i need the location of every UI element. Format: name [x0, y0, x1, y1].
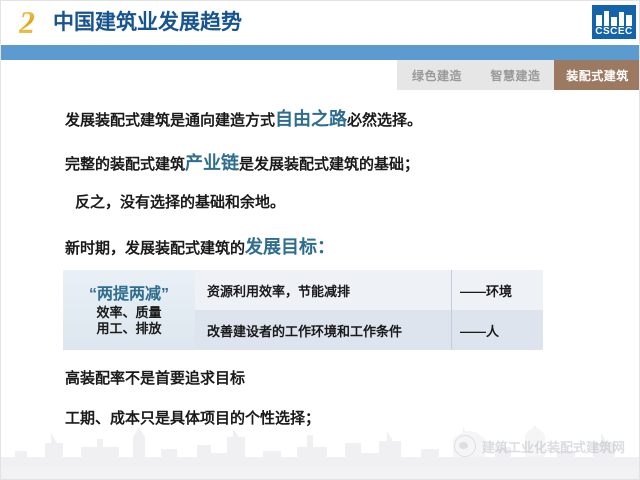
section-number: 2 [19, 4, 35, 40]
slide-header: 2 中国建筑业发展趋势 CSCEC [1, 1, 640, 45]
goal-description: 改善建设者的工作环境和工作条件 [195, 321, 451, 340]
cscec-logo: CSCEC [592, 5, 636, 39]
line1-highlight: 自由之路 [275, 109, 347, 129]
line2-text-a: 完整的装配式建筑 [65, 156, 185, 173]
goal-tag: ——人 [451, 310, 543, 350]
statement-line-6: 工期、成本只是具体项目的个性选择； [65, 409, 320, 429]
goals-left-heading: “两提两减” [89, 285, 169, 305]
slide-canvas: 2 中国建筑业发展趋势 CSCEC 绿色建造 智慧建造 装配式建筑 发展装配式建… [0, 0, 640, 480]
tab-smart-construction[interactable]: 智慧建造 [477, 60, 554, 90]
watermark-logo-icon [454, 435, 476, 457]
tab-prefabricated-building[interactable]: 装配式建筑 [554, 60, 640, 90]
table-row: 资源利用效率，节能减排 ——环境 [195, 270, 543, 310]
header-divider-band [1, 45, 640, 60]
line1-text-b: 必然选择。 [347, 112, 422, 129]
line2-highlight: 产业链 [185, 153, 239, 173]
statement-line-4: 新时期，发展装配式建筑的发展目标： [65, 237, 335, 259]
watermark-label: 建筑工业化装配式建筑网 [482, 437, 625, 456]
goal-description: 资源利用效率，节能减排 [195, 281, 451, 300]
logo-wordmark: CSCEC [595, 26, 633, 37]
goals-table-left-cell: “两提两减” 效率、质量 用工、排放 [63, 270, 195, 350]
goals-left-sub-line-2: 用工、排放 [96, 321, 161, 337]
goals-left-sub-line-1: 效率、质量 [96, 305, 161, 321]
line2-text-b: 是发展装配式建筑的基础； [239, 156, 419, 173]
site-watermark: 建筑工业化装配式建筑网 [454, 435, 625, 457]
page-title: 中国建筑业发展趋势 [53, 9, 242, 37]
statement-line-3: 反之，没有选择的基础和余地。 [75, 193, 285, 213]
line4-text-a: 新时期，发展装配式建筑的 [65, 240, 245, 257]
statement-line-1: 发展装配式建筑是通向建造方式自由之路必然选择。 [65, 109, 422, 131]
goals-table-rows: 资源利用效率，节能减排 ——环境 改善建设者的工作环境和工作条件 ——人 [195, 270, 543, 350]
goals-table: “两提两减” 效率、质量 用工、排放 资源利用效率，节能减排 ——环境 改善建设… [63, 270, 543, 350]
line1-text-a: 发展装配式建筑是通向建造方式 [65, 112, 275, 129]
table-row: 改善建设者的工作环境和工作条件 ——人 [195, 310, 543, 350]
statement-line-5: 高装配率不是首要追求目标 [65, 369, 245, 389]
goal-tag: ——环境 [451, 270, 543, 310]
statement-line-2: 完整的装配式建筑产业链是发展装配式建筑的基础； [65, 153, 419, 175]
tab-green-construction[interactable]: 绿色建造 [397, 60, 477, 90]
logo-building-bars-icon [596, 8, 632, 26]
topic-tab-strip: 绿色建造 智慧建造 装配式建筑 [397, 60, 640, 90]
line4-highlight: 发展目标： [245, 237, 335, 257]
